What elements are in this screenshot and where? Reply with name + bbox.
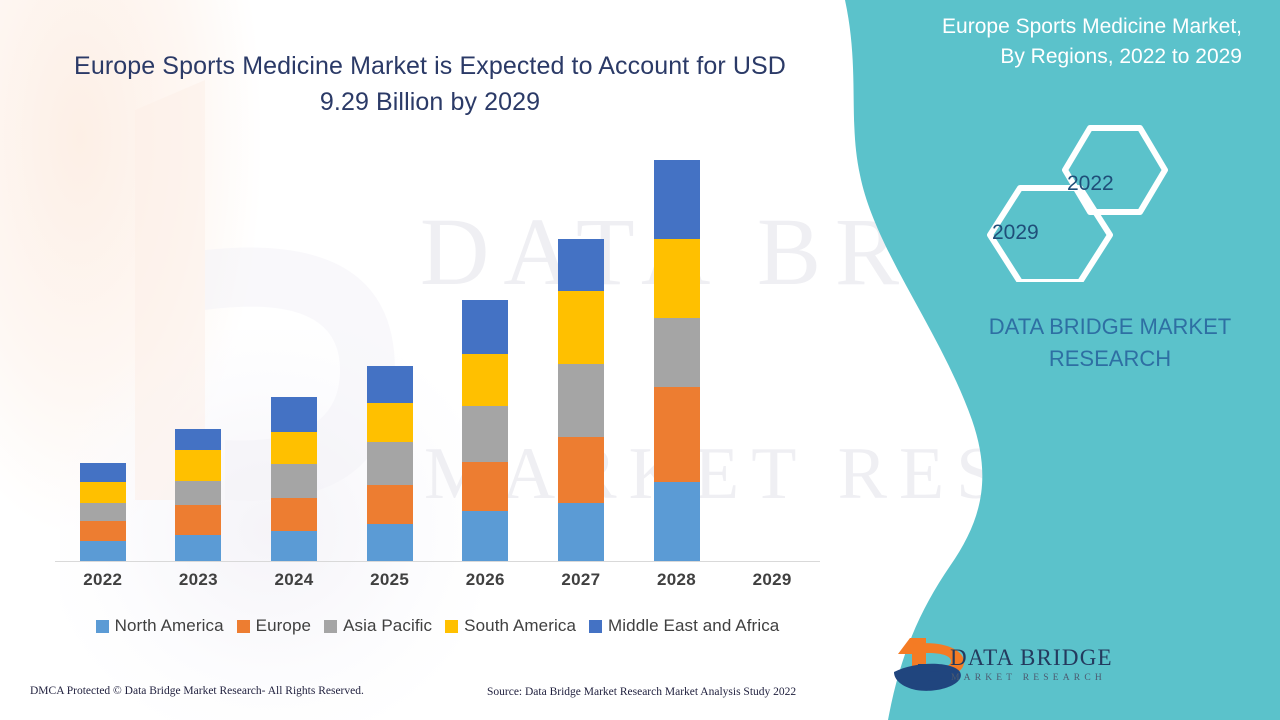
bar-segment[interactable] — [462, 462, 508, 512]
bar-segment[interactable] — [654, 160, 700, 239]
stacked-bar[interactable] — [80, 463, 126, 561]
bar-segment[interactable] — [175, 450, 221, 480]
bar-segment[interactable] — [271, 498, 317, 530]
bar-segment[interactable] — [271, 464, 317, 498]
bar-segment[interactable] — [271, 432, 317, 464]
x-axis-tick-label: 2027 — [533, 570, 629, 602]
bar-segment[interactable] — [367, 442, 413, 485]
bar-segment[interactable] — [367, 524, 413, 561]
bar-segment[interactable] — [462, 406, 508, 462]
brand-title: DATA BRIDGE MARKET RESEARCH — [960, 311, 1260, 375]
hexagon-2022-icon — [1065, 128, 1165, 212]
bar-segment[interactable] — [462, 354, 508, 406]
bar-segment[interactable] — [654, 482, 700, 561]
bar-segment[interactable] — [80, 503, 126, 521]
bar-slot — [629, 150, 725, 561]
legend-label: North America — [115, 616, 224, 636]
bar-slot — [246, 150, 342, 561]
bar-segment[interactable] — [80, 541, 126, 561]
stacked-bar[interactable] — [271, 397, 317, 561]
panel-title: Europe Sports Medicine Market, By Region… — [922, 12, 1242, 72]
bar-slot — [151, 150, 247, 561]
legend-swatch-icon — [324, 620, 337, 633]
x-axis-tick-label: 2029 — [724, 570, 820, 602]
legend-item[interactable]: North America — [96, 616, 224, 636]
legend-item[interactable]: Middle East and Africa — [589, 616, 779, 636]
x-axis-labels: 20222023202420252026202720282029 — [55, 570, 820, 602]
bar-segment[interactable] — [654, 239, 700, 318]
bar-group — [55, 150, 820, 561]
bar-segment[interactable] — [654, 387, 700, 482]
hexagon-2029-label: 2029 — [992, 221, 1039, 245]
chart-legend: North AmericaEuropeAsia PacificSouth Ame… — [55, 616, 820, 636]
x-axis-line — [55, 561, 820, 562]
bar-segment[interactable] — [558, 503, 604, 561]
bar-segment[interactable] — [462, 300, 508, 354]
legend-label: Europe — [256, 616, 311, 636]
bar-segment[interactable] — [80, 482, 126, 502]
legend-swatch-icon — [237, 620, 250, 633]
hexagon-pair-graphic — [972, 122, 1192, 282]
bar-segment[interactable] — [558, 291, 604, 364]
bar-slot — [533, 150, 629, 561]
bar-segment[interactable] — [367, 403, 413, 442]
legend-label: Asia Pacific — [343, 616, 432, 636]
hexagon-2022-label: 2022 — [1067, 172, 1114, 196]
chart-plot-area — [55, 150, 820, 562]
bar-segment[interactable] — [367, 366, 413, 403]
bar-segment[interactable] — [80, 521, 126, 541]
plot — [55, 150, 820, 562]
stacked-bar[interactable] — [175, 429, 221, 561]
bar-segment[interactable] — [175, 481, 221, 505]
bar-segment[interactable] — [654, 318, 700, 387]
stacked-bar[interactable] — [654, 160, 700, 561]
bar-segment[interactable] — [271, 531, 317, 561]
bar-segment[interactable] — [175, 429, 221, 451]
legend-label: South America — [464, 616, 576, 636]
x-axis-tick-label: 2026 — [438, 570, 534, 602]
legend-item[interactable]: Asia Pacific — [324, 616, 432, 636]
bar-segment[interactable] — [558, 239, 604, 291]
x-axis-tick-label: 2028 — [629, 570, 725, 602]
x-axis-tick-label: 2023 — [151, 570, 247, 602]
bar-segment[interactable] — [367, 485, 413, 524]
bar-segment[interactable] — [80, 463, 126, 482]
legend-item[interactable]: South America — [445, 616, 576, 636]
bar-segment[interactable] — [271, 397, 317, 431]
page-title: Europe Sports Medicine Market is Expecte… — [60, 48, 800, 120]
stacked-bar[interactable] — [462, 300, 508, 561]
legend-label: Middle East and Africa — [608, 616, 779, 636]
x-axis-tick-label: 2022 — [55, 570, 151, 602]
bar-slot — [55, 150, 151, 561]
source-text: Source: Data Bridge Market Research Mark… — [487, 686, 796, 698]
logo-name-text: DATA BRIDGE — [950, 645, 1113, 671]
bar-segment[interactable] — [462, 511, 508, 561]
bar-segment[interactable] — [175, 505, 221, 535]
chart-panel: DATA BRIDGE MARKET RESEARCH Europe Sport… — [0, 0, 860, 720]
stacked-bar[interactable] — [558, 239, 604, 561]
copyright-text: DMCA Protected © Data Bridge Market Rese… — [30, 685, 364, 697]
infographic-root: DATA BRIDGE MARKET RESEARCH Europe Sport… — [0, 0, 1280, 720]
bar-slot — [342, 150, 438, 561]
x-axis-tick-label: 2025 — [342, 570, 438, 602]
stacked-bar[interactable] — [367, 366, 413, 561]
x-axis-tick-label: 2024 — [246, 570, 342, 602]
bar-segment[interactable] — [558, 364, 604, 437]
legend-swatch-icon — [96, 620, 109, 633]
bar-slot — [438, 150, 534, 561]
legend-swatch-icon — [589, 620, 602, 633]
legend-item[interactable]: Europe — [237, 616, 311, 636]
bar-segment[interactable] — [558, 437, 604, 503]
legend-swatch-icon — [445, 620, 458, 633]
bar-slot — [724, 150, 820, 561]
bar-segment[interactable] — [175, 535, 221, 561]
logo-subtitle-text: MARKET RESEARCH — [951, 673, 1106, 683]
